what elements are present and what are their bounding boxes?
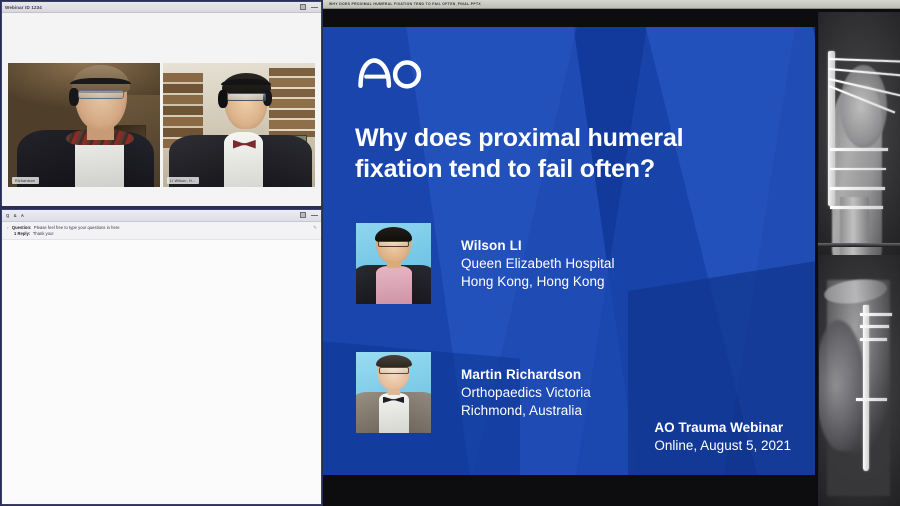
maximize-icon[interactable] [300, 212, 306, 218]
meeting-client-window: Webinar ID 1234 [0, 0, 323, 506]
video-panel-titlebar[interactable]: Webinar ID 1234 [2, 2, 321, 13]
headshot-2-glasses [379, 367, 409, 373]
xray-2-screw-1 [860, 313, 892, 316]
qa-reply-text: Thank you! [33, 231, 54, 236]
headshot-martin-richardson [356, 352, 431, 433]
participant-2-bookshelf-right [269, 68, 315, 137]
video-tile-participant-2[interactable]: LI Wilson, H... [163, 63, 315, 187]
headshot-1-glasses [378, 241, 410, 247]
speaker-2-organization: Orthopaedics Victoria [461, 384, 591, 402]
screen-share-area: WHY DOES PROXIMAL HUMERAL FIXATION TEND … [323, 0, 900, 506]
speaker-1-organization: Queen Elizabeth Hospital [461, 255, 615, 273]
xray-image-strip [818, 12, 900, 506]
qa-question-text: Please feel free to type your questions … [34, 225, 120, 230]
speaker-block-2: Martin Richardson Orthopaedics Victoria … [356, 352, 591, 433]
maximize-icon[interactable] [300, 4, 306, 10]
xray-1-screw-4 [830, 206, 883, 209]
qa-panel-title: Q & A [6, 213, 25, 218]
xray-2-screw-4 [856, 398, 887, 401]
video-tile-participant-1[interactable]: Richardson [8, 63, 160, 187]
chevron-down-icon[interactable]: ⌄ [6, 225, 9, 229]
qa-question-label: Question: [12, 225, 32, 230]
minimize-icon[interactable] [311, 215, 318, 216]
qa-panel-header[interactable]: Q & A [2, 210, 321, 222]
qa-question-line: ⌄ Question: Please feel free to type you… [6, 225, 317, 230]
participant-1-headset-band [70, 78, 131, 84]
slide-title: Why does proximal humeral fixation tend … [355, 123, 775, 184]
slide-footer-event: AO Trauma Webinar [654, 419, 791, 437]
minimize-icon[interactable] [311, 7, 318, 8]
speaker-1-name: Wilson LI [461, 237, 615, 255]
qa-empty-area [2, 240, 321, 498]
xray-2-screw-3 [860, 338, 888, 341]
participant-2-name-label: LI Wilson, H... [167, 177, 199, 184]
headshot-wilson-li [356, 223, 431, 304]
headshot-1-shirt [376, 266, 412, 304]
speaker-2-location: Richmond, Australia [461, 402, 591, 420]
speaker-block-1: Wilson LI Queen Elizabeth Hospital Hong … [356, 223, 615, 304]
video-panel-window-controls[interactable] [300, 4, 318, 10]
participant-2-headset-band [221, 79, 271, 85]
qa-list: ⌄ Question: Please feel free to type you… [2, 222, 321, 498]
screen: Webinar ID 1234 [0, 0, 900, 506]
shared-file-name: WHY DOES PROXIMAL HUMERAL FIXATION TEND … [329, 2, 481, 6]
xray-2-screw-2 [860, 325, 889, 328]
xray-proximal-humerus-plate-fixation [818, 12, 900, 255]
qa-list-item[interactable]: ⌄ Question: Please feel free to type you… [2, 222, 321, 240]
qa-reply-line: 1 Reply: Thank you! [6, 231, 317, 236]
video-panel-title: Webinar ID 1234 [5, 5, 42, 10]
speaker-2-name: Martin Richardson [461, 366, 591, 384]
speaker-1-info: Wilson LI Queen Elizabeth Hospital Hong … [461, 237, 615, 290]
speaker-2-info: Martin Richardson Orthopaedics Victoria … [461, 366, 591, 419]
slide-footer-details: Online, August 5, 2021 [654, 437, 791, 455]
headshot-2-hair [376, 355, 412, 367]
share-letterbox-top [323, 9, 900, 27]
participant-1-glasses [78, 90, 124, 99]
xray-proximal-humerus-intramedullary-nail [818, 255, 900, 506]
participant-2-glasses [227, 93, 267, 102]
xray-1-plate [828, 51, 835, 207]
participant-2-shirt [224, 132, 264, 187]
xray-1-screw-3 [830, 187, 885, 190]
ao-logo-icon [356, 50, 424, 92]
shared-app-titlebar[interactable]: WHY DOES PROXIMAL HUMERAL FIXATION TEND … [323, 0, 900, 9]
speaker-1-location: Hong Kong, Hong Kong [461, 273, 615, 291]
xray-2-nail [863, 305, 869, 471]
qa-panel-window-controls[interactable] [300, 212, 318, 218]
qa-reply-label[interactable]: 1 Reply: [14, 231, 30, 236]
xray-1-screw-2 [830, 168, 887, 171]
xray-1-screw-1 [830, 148, 888, 151]
presentation-slide: Why does proximal humeral fixation tend … [323, 27, 815, 475]
video-tile-grid: Richardson [2, 13, 321, 206]
video-panel: Webinar ID 1234 [1, 1, 322, 205]
participant-1-name-label: Richardson [12, 177, 39, 184]
pencil-icon[interactable]: ✎ [313, 225, 317, 231]
qa-panel: Q & A ⌄ Question: Please feel free to ty… [1, 209, 322, 505]
slide-footer: AO Trauma Webinar Online, August 5, 2021 [654, 419, 791, 455]
xray-divider [818, 243, 900, 247]
slide-letterbox-bottom [323, 475, 818, 506]
